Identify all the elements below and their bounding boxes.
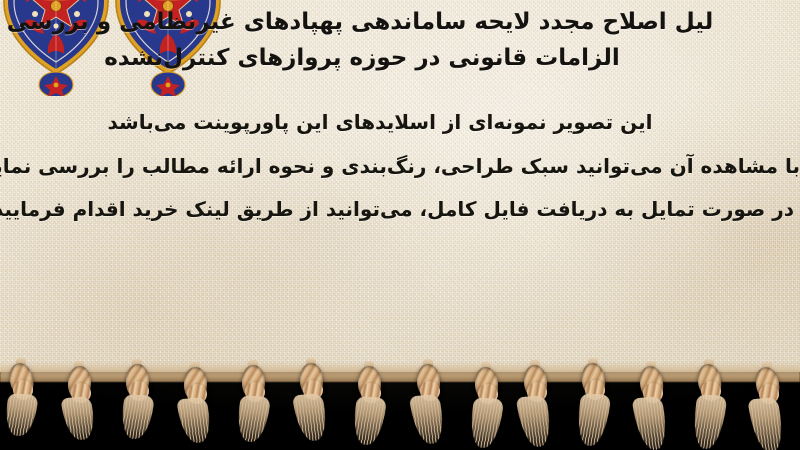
body-line-sample-notice: این تصویر نمونه‌ای از اسلایدهای این پاور…	[0, 112, 760, 132]
slide-title-line-2: الزامات قانونی در حوزه پروازهای کنترل‌نش…	[0, 40, 724, 76]
body-line-design-review: با مشاهده آن می‌توانید سبک طراحی، رنگ‌بن…	[0, 156, 800, 176]
slide-canvas: لیل اصلاح مجدد لایحه ساماندهی پهپادهای غ…	[0, 0, 800, 450]
slide-title-line-1: لیل اصلاح مجدد لایحه ساماندهی پهپادهای غ…	[0, 4, 720, 40]
carpet-selvedge-edge	[0, 362, 800, 382]
body-line-purchase-link: در صورت تمایل به دریافت فایل کامل، می‌تو…	[0, 199, 794, 219]
black-bottom-band	[0, 372, 800, 450]
slide-body-text: این تصویر نمونه‌ای از اسلایدهای این پاور…	[0, 112, 800, 219]
slide-title: لیل اصلاح مجدد لایحه ساماندهی پهپادهای غ…	[0, 4, 790, 77]
